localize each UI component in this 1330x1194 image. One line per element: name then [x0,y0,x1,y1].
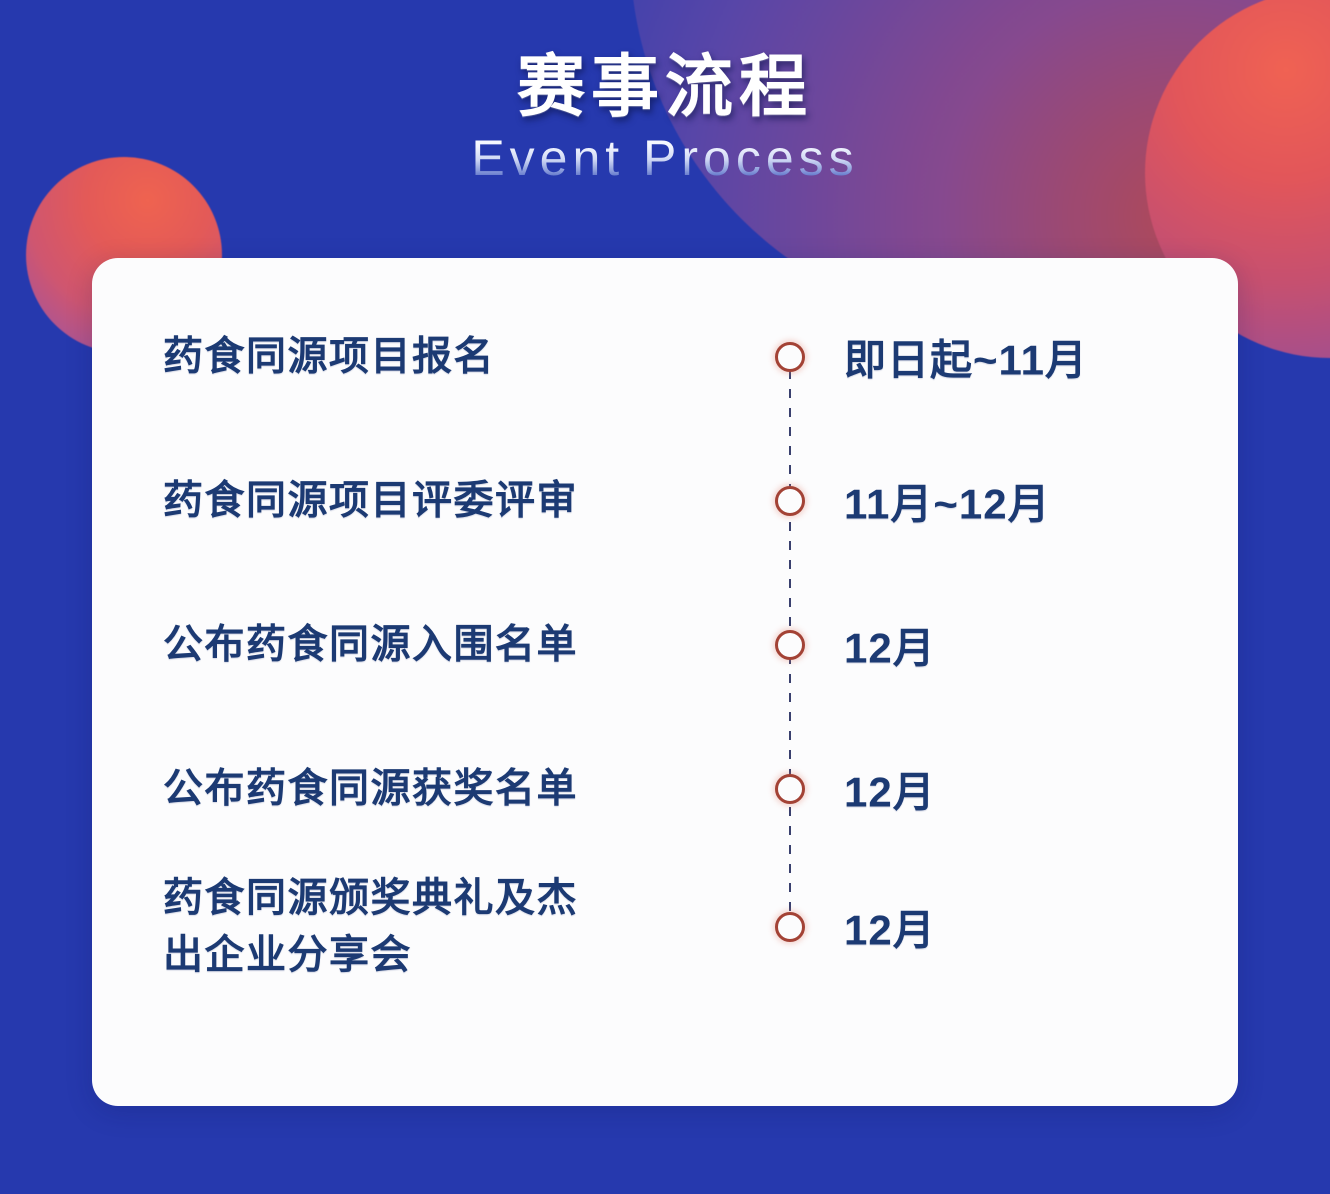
timeline-row-label: 公布药食同源获奖名单 [163,761,743,818]
event-process-poster: 赛事流程 Event Process 药食同源项目报名即日起~11月药食同源项目… [0,0,1330,1194]
timeline-row-date: 即日起~11月 [844,327,1088,388]
timeline-marker-icon [775,774,805,804]
timeline-row-label: 药食同源颁奖典礼及杰 出企业分享会 [163,870,743,984]
timeline-row-label: 药食同源项目评委评审 [163,473,743,530]
timeline-marker-icon [775,912,805,942]
timeline-marker-icon [775,342,805,372]
page-subtitle-wrapper: Event Process [0,131,1330,193]
timeline-marker-icon [775,630,805,660]
timeline-row-label: 公布药食同源入围名单 [163,617,743,674]
page-subtitle: Event Process [0,131,1330,186]
timeline-list: 药食同源项目报名即日起~11月药食同源项目评委评审11月~12月公布药食同源入围… [92,258,1238,1106]
timeline-row-label: 药食同源项目报名 [163,329,743,386]
poster-heading: 赛事流程 Event Process [0,52,1330,193]
timeline-row-date: 11月~12月 [844,471,1051,532]
timeline-row-date: 12月 [844,897,936,958]
timeline-row-date: 12月 [844,759,936,820]
timeline-row-date: 12月 [844,615,936,676]
timeline-card: 药食同源项目报名即日起~11月药食同源项目评委评审11月~12月公布药食同源入围… [92,258,1238,1106]
page-title: 赛事流程 [0,52,1330,123]
timeline-marker-icon [775,486,805,516]
